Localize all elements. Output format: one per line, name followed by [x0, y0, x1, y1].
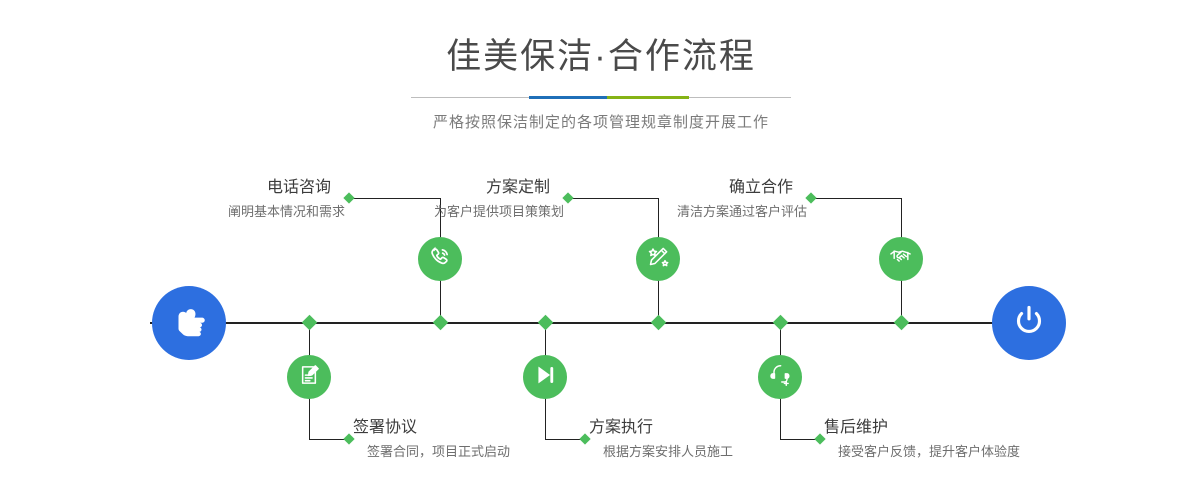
flow-diagram-page: 佳美保洁·合作流程 严格按照保洁制定的各项管理规章制度开展工作: [0, 0, 1202, 502]
step-label-phone-consultation: 电话咨询 阐明基本情况和需求: [150, 177, 345, 223]
axis-marker-step-1: [433, 315, 449, 331]
timeline-end-node: [992, 286, 1066, 360]
step-desc: 接受客户反馈，提升客户体验度: [824, 439, 1020, 463]
timeline-start-node: [152, 286, 226, 360]
play-execute-icon: [532, 362, 558, 393]
page-header: 佳美保洁·合作流程 严格按照保洁制定的各项管理规章制度开展工作: [0, 0, 1202, 132]
step-icon-establish-cooperation[interactable]: [879, 237, 923, 281]
step-icon-phone-consultation[interactable]: [418, 237, 462, 281]
step-title: 确立合作: [610, 177, 807, 199]
step-label-sign-agreement: 签署协议 签署合同，项目正式启动: [353, 417, 510, 463]
customer-support-icon: [767, 362, 793, 393]
step-icon-after-sales-support[interactable]: [758, 355, 802, 399]
power-icon: [1008, 300, 1050, 347]
axis-marker-step-2: [302, 315, 318, 331]
step-label-establish-cooperation: 确立合作 清洁方案通过客户评估: [610, 177, 807, 223]
page-subtitle: 严格按照保洁制定的各项管理规章制度开展工作: [0, 99, 1202, 132]
step-icon-plan-customization[interactable]: [636, 237, 680, 281]
divider-segment-green: [607, 96, 689, 99]
step-label-plan-execution: 方案执行 根据方案安排人员施工: [589, 417, 733, 463]
step-desc: 签署合同，项目正式启动: [353, 439, 510, 463]
step-title: 方案执行: [589, 417, 733, 439]
page-title: 佳美保洁·合作流程: [0, 0, 1202, 78]
axis-marker-step-3: [651, 315, 667, 331]
divider-segment-blue: [529, 96, 607, 99]
document-sign-icon: [296, 362, 322, 393]
step-title: 签署协议: [353, 417, 510, 439]
step-desc: 为客户提供项目策策划: [370, 199, 564, 223]
process-timeline: 电话咨询 阐明基本情况和需求 签署协议 签署合同，项目正式启动: [0, 150, 1202, 502]
phone-call-icon: [427, 244, 453, 275]
title-divider: [411, 96, 791, 99]
step-title: 售后维护: [824, 417, 1020, 439]
step-label-after-sales-support: 售后维护 接受客户反馈，提升客户体验度: [824, 417, 1020, 463]
step-title: 电话咨询: [150, 177, 345, 199]
step-desc: 清洁方案通过客户评估: [610, 199, 807, 223]
step-label-plan-customization: 方案定制 为客户提供项目策策划: [370, 177, 564, 223]
step-icon-sign-agreement[interactable]: [287, 355, 331, 399]
pencil-design-icon: [645, 244, 671, 275]
pointing-hand-icon: [168, 300, 210, 347]
handshake-icon: [888, 244, 914, 275]
step-title: 方案定制: [370, 177, 564, 199]
step-desc: 阐明基本情况和需求: [150, 199, 345, 223]
axis-marker-step-4: [538, 315, 554, 331]
axis-marker-step-6: [773, 315, 789, 331]
axis-marker-step-5: [894, 315, 910, 331]
label-marker-step-1: [343, 192, 354, 203]
step-icon-plan-execution[interactable]: [523, 355, 567, 399]
step-desc: 根据方案安排人员施工: [589, 439, 733, 463]
timeline-axis: [150, 322, 1052, 324]
label-marker-step-5: [805, 192, 816, 203]
connector-horizontal-step-5: [811, 198, 902, 199]
label-marker-step-3: [562, 192, 573, 203]
